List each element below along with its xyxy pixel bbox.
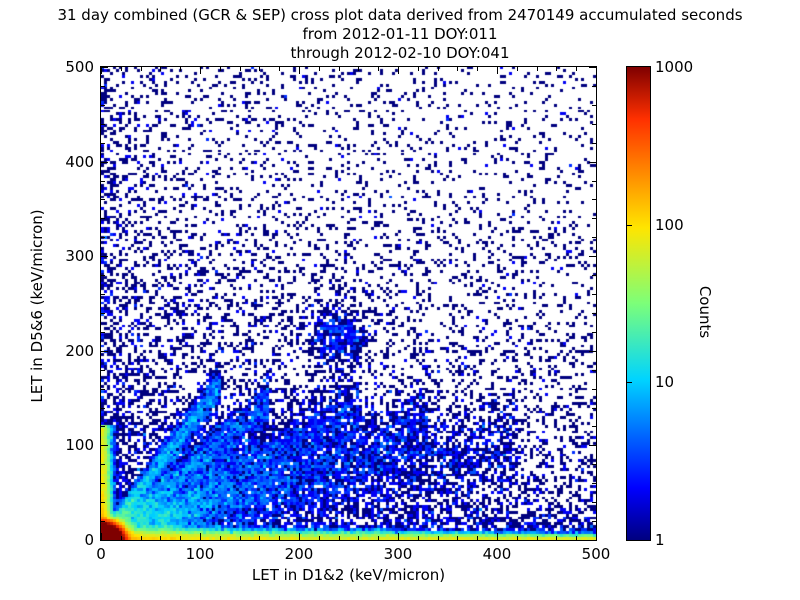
y-minor-tick-right [592,332,596,333]
x-minor-tick [160,536,161,540]
y-minor-tick-right [592,464,596,465]
figure-canvas: 31 day combined (GCR & SEP) cross plot d… [0,0,800,600]
x-minor-tick-top [220,67,221,71]
y-tick-label: 0 [84,531,94,549]
x-minor-tick [556,536,557,540]
y-tick-label: 500 [65,58,94,76]
x-major-tick [299,533,300,540]
y-major-tick [101,445,108,446]
y-minor-tick-right [592,313,596,314]
x-tick-label: 200 [285,545,314,563]
y-tick-label: 200 [65,342,94,360]
x-minor-tick-top [319,67,320,71]
x-tick-label: 100 [186,545,215,563]
y-minor-tick [101,483,105,484]
x-minor-tick [358,536,359,540]
y-minor-tick-right [592,237,596,238]
y-major-tick [101,162,108,163]
x-minor-tick [259,536,260,540]
x-major-tick-top [101,67,102,74]
x-tick-label: 500 [582,545,611,563]
x-minor-tick-top [259,67,260,71]
x-minor-tick [418,536,419,540]
y-minor-tick [101,389,105,390]
x-minor-tick-top [378,67,379,71]
y-minor-tick [101,370,105,371]
y-minor-tick [101,86,105,87]
x-minor-tick [576,536,577,540]
x-axis-label: LET in D1&2 (keV/micron) [100,566,597,584]
x-major-tick [497,533,498,540]
x-minor-tick-top [457,67,458,71]
y-minor-tick-right [592,143,596,144]
y-minor-tick [101,408,105,409]
y-minor-tick-right [592,408,596,409]
y-minor-tick [101,332,105,333]
y-minor-tick-right [592,483,596,484]
title-line-1: 31 day combined (GCR & SEP) cross plot d… [0,6,800,25]
x-major-tick-top [299,67,300,74]
y-major-tick [101,256,108,257]
x-minor-tick [517,536,518,540]
x-minor-tick-top [477,67,478,71]
x-minor-tick [220,536,221,540]
title-line-2: from 2012-01-11 DOY:011 [0,25,800,44]
y-minor-tick-right [592,181,596,182]
y-tick-label: 400 [65,153,94,171]
colorbar-tick-label: 1000 [655,58,693,76]
colorbar[interactable] [626,66,651,541]
x-major-tick [200,533,201,540]
y-minor-tick [101,181,105,182]
x-minor-tick-top [180,67,181,71]
colorbar-tick-label: 100 [655,216,684,234]
x-major-tick-top [497,67,498,74]
y-minor-tick [101,275,105,276]
y-minor-tick-right [592,294,596,295]
x-minor-tick-top [279,67,280,71]
y-major-tick [101,67,108,68]
x-minor-tick [537,536,538,540]
y-minor-tick [101,521,105,522]
x-minor-tick-top [556,67,557,71]
x-minor-tick-top [517,67,518,71]
y-tick-label: 100 [65,436,94,454]
x-tick-label: 0 [96,545,106,563]
x-minor-tick-top [121,67,122,71]
x-tick-label: 300 [384,545,413,563]
x-minor-tick-top [537,67,538,71]
y-axis-label: LET in D5&6 (keV/micron) [28,166,46,446]
x-minor-tick [121,536,122,540]
colorbar-gradient [627,67,650,540]
y-minor-tick-right [592,124,596,125]
x-minor-tick-top [576,67,577,71]
colorbar-tick [627,225,632,226]
y-minor-tick-right [592,502,596,503]
x-major-tick [101,533,102,540]
x-major-tick [398,533,399,540]
x-minor-tick-top [141,67,142,71]
x-minor-tick [240,536,241,540]
x-minor-tick-top [240,67,241,71]
x-minor-tick [339,536,340,540]
y-minor-tick [101,237,105,238]
x-tick-label: 400 [483,545,512,563]
x-minor-tick [438,536,439,540]
y-minor-tick [101,313,105,314]
y-major-tick [101,351,108,352]
x-minor-tick-top [160,67,161,71]
x-minor-tick [477,536,478,540]
y-minor-tick [101,464,105,465]
y-minor-tick [101,199,105,200]
x-minor-tick [141,536,142,540]
y-minor-tick-right [592,199,596,200]
y-minor-tick-right [592,426,596,427]
colorbar-tick-label: 1 [655,531,665,549]
x-major-tick-top [200,67,201,74]
colorbar-label: Counts [696,212,714,412]
y-major-tick-right [589,351,596,352]
y-major-tick [101,540,108,541]
y-minor-tick [101,218,105,219]
x-minor-tick [378,536,379,540]
y-minor-tick-right [592,105,596,106]
x-minor-tick [180,536,181,540]
y-major-tick-right [589,162,596,163]
y-minor-tick-right [592,389,596,390]
y-minor-tick [101,426,105,427]
colorbar-tick-label: 10 [655,373,674,391]
y-major-tick-right [589,540,596,541]
y-minor-tick [101,143,105,144]
y-minor-tick [101,502,105,503]
x-minor-tick [279,536,280,540]
plot-title: 31 day combined (GCR & SEP) cross plot d… [0,6,800,63]
y-major-tick-right [589,445,596,446]
x-minor-tick-top [418,67,419,71]
colorbar-tick [627,382,632,383]
plot-axes[interactable] [100,66,597,541]
x-major-tick-top [398,67,399,74]
y-minor-tick-right [592,275,596,276]
x-minor-tick-top [358,67,359,71]
x-major-tick-top [596,67,597,74]
y-minor-tick-right [592,521,596,522]
y-major-tick-right [589,256,596,257]
x-major-tick [596,533,597,540]
y-minor-tick-right [592,218,596,219]
x-minor-tick [457,536,458,540]
y-major-tick-right [589,67,596,68]
y-minor-tick [101,124,105,125]
y-minor-tick-right [592,86,596,87]
x-minor-tick-top [438,67,439,71]
x-minor-tick [319,536,320,540]
y-minor-tick [101,294,105,295]
y-tick-label: 300 [65,247,94,265]
y-minor-tick-right [592,370,596,371]
y-minor-tick [101,105,105,106]
x-minor-tick-top [339,67,340,71]
density-scatter-canvas [101,67,596,540]
